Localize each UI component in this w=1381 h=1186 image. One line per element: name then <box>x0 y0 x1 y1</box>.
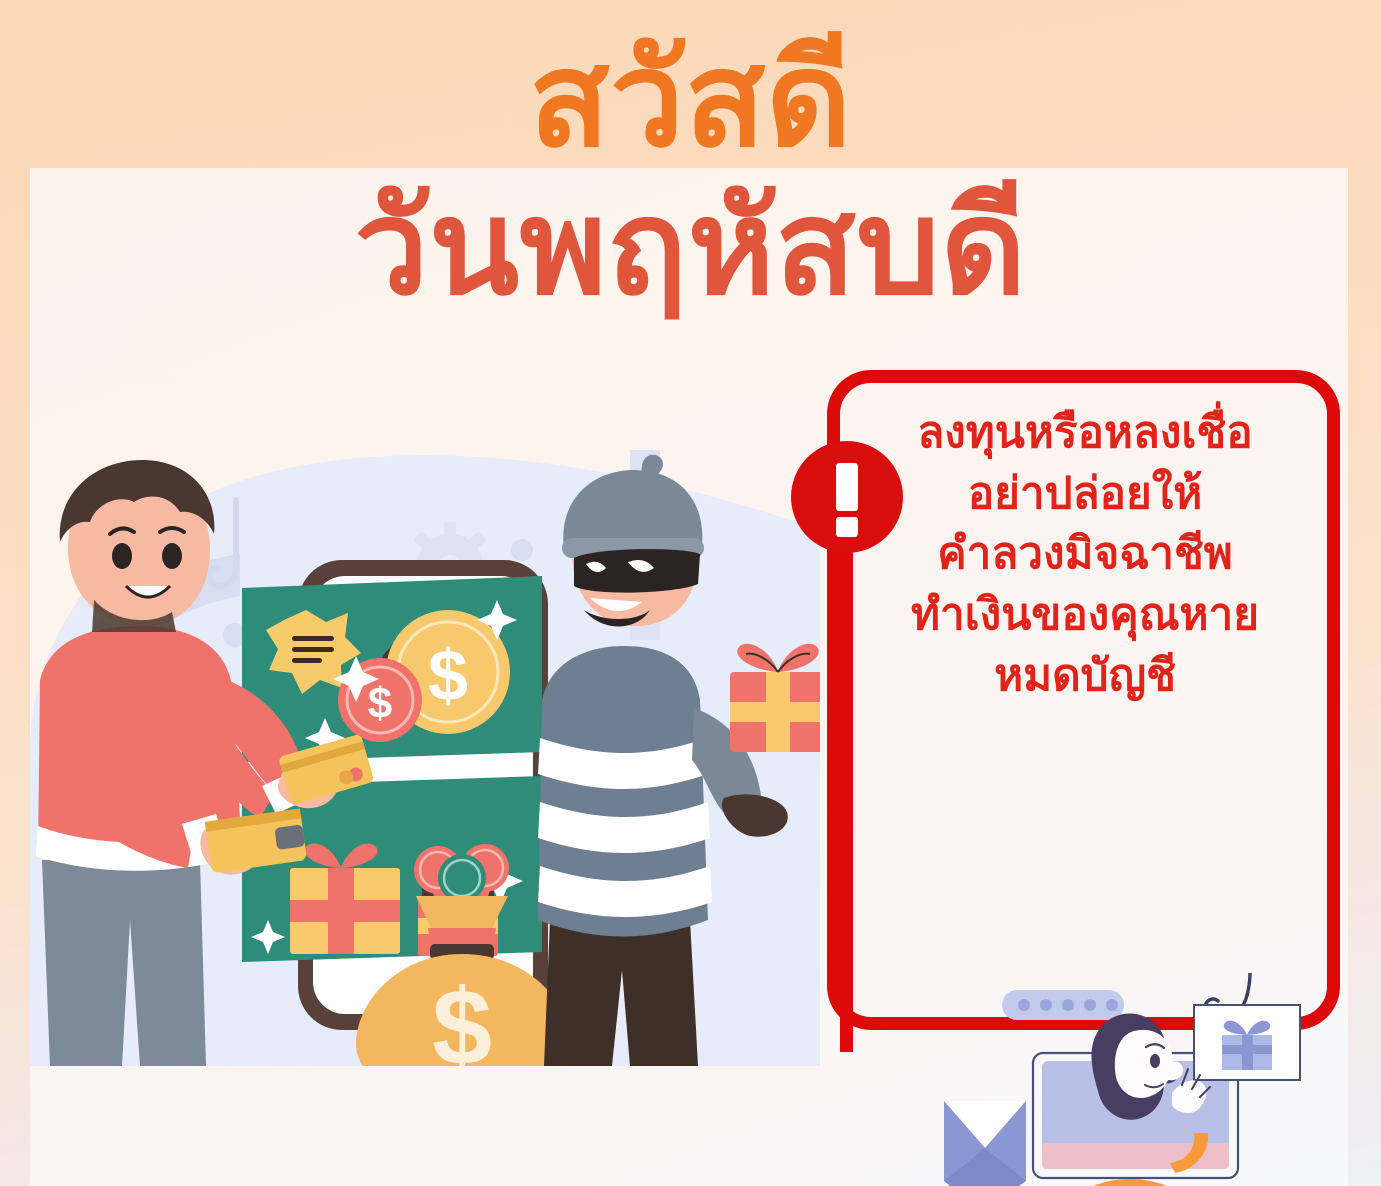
greeting-line-2: วันพฤหัสบดี <box>0 182 1381 314</box>
online-shopping-scam-illustration: $ $ <box>30 450 820 1066</box>
svg-text:$: $ <box>368 679 392 728</box>
warning-line-1: ลงทุนหรือหลงเชื่อ <box>880 403 1290 464</box>
greeting-line-1: สวัสดี <box>0 34 1381 166</box>
svg-text:$: $ <box>428 636 468 716</box>
warning-message: ลงทุนหรือหลงเชื่อ อย่าปล่อยให้ คำลวงมิจฉ… <box>880 403 1290 707</box>
warning-line-3: คำลวงมิจฉาชีพ <box>880 524 1290 585</box>
svg-text:$: $ <box>432 966 492 1066</box>
poster-canvas: $ $ <box>0 0 1381 1186</box>
warning-line-2: อย่าปล่อยให้ <box>880 464 1290 525</box>
warning-line-5: หมดบัญชี <box>880 646 1290 707</box>
warning-line-4: ทำเงินของคุณหาย <box>880 585 1290 646</box>
phishing-illustration <box>920 973 1340 1186</box>
